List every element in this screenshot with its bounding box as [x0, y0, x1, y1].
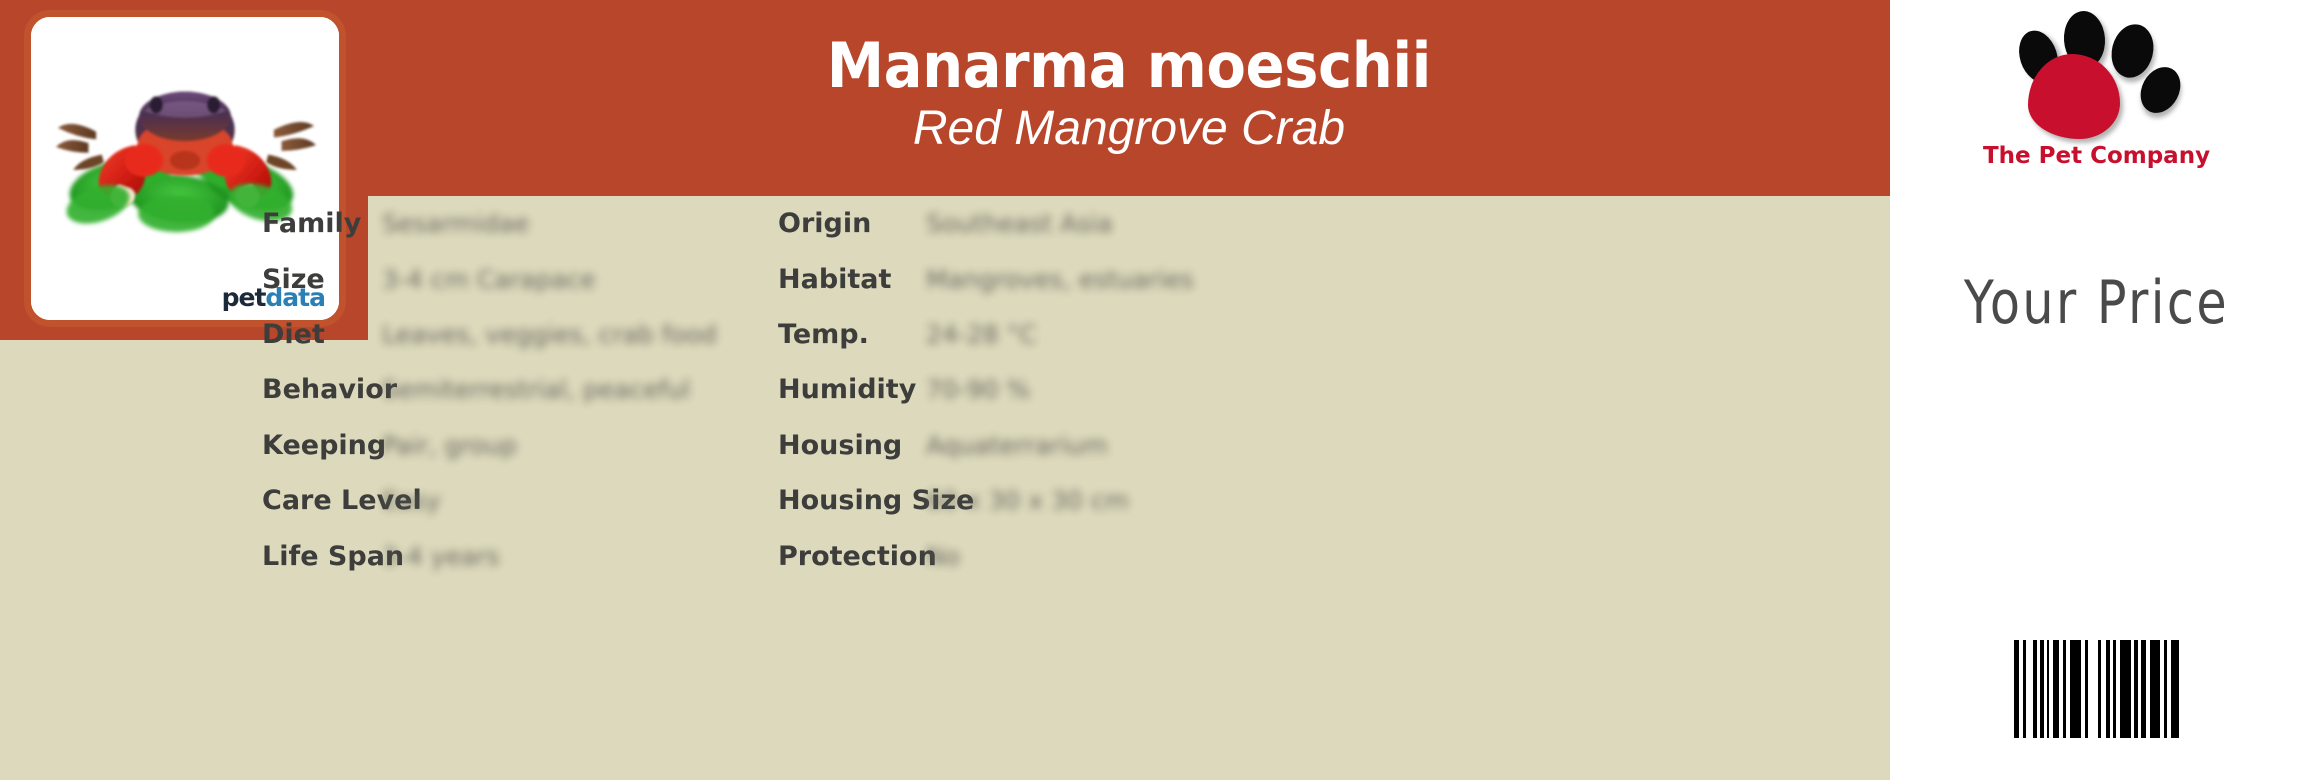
spec-row-origin: Origin Southeast Asia — [778, 196, 1338, 251]
spec-label-housing-size: Housing Size — [778, 485, 926, 516]
species-scientific-name: Manarma moeschii — [827, 34, 1431, 97]
spec-row-temp: Temp. 24-28 °C — [778, 307, 1338, 362]
barcode — [1890, 640, 2303, 740]
spec-row-housing: Housing Aquaterrarium — [778, 418, 1338, 473]
spec-row-housing-size: Housing Size 60 x 30 x 30 cm — [778, 473, 1338, 528]
brand-name: The Pet Company — [1983, 143, 2210, 169]
spec-row-humidity: Humidity 70-90 % — [778, 362, 1338, 417]
spec-row-behavior: Behavior Semiterrestrial, peaceful — [262, 362, 782, 417]
spec-label-housing: Housing — [778, 430, 926, 461]
spec-label-behavior: Behavior — [262, 374, 382, 405]
pet-product-label-card: Manarma moeschii Red Mangrove Crab — [0, 0, 2303, 780]
spec-value-diet: Leaves, veggies, crab food — [382, 320, 717, 349]
barcode-gap — [2026, 640, 2033, 738]
spec-column-right: Origin Southeast Asia Habitat Mangroves,… — [778, 196, 1338, 584]
spec-label-origin: Origin — [778, 208, 926, 239]
barcode-gap — [2088, 640, 2098, 738]
spec-label-humidity: Humidity — [778, 374, 926, 405]
spec-value-care-level: Easy — [382, 486, 441, 515]
barcode-bar — [2070, 640, 2081, 738]
spec-value-life-span: 3-4 years — [382, 542, 500, 571]
spec-value-temp: 24-28 °C — [926, 320, 1037, 349]
spec-label-temp: Temp. — [778, 319, 926, 350]
spec-label-diet: Diet — [262, 319, 382, 350]
spec-row-habitat: Habitat Mangroves, estuaries — [778, 251, 1338, 306]
spec-label-family: Family — [262, 208, 382, 239]
spec-value-protection: No — [926, 542, 960, 571]
spec-value-family: Sesarmidae — [382, 209, 529, 238]
spec-value-housing: Aquaterrarium — [926, 431, 1108, 460]
spec-value-housing-size: 60 x 30 x 30 cm — [926, 486, 1129, 515]
barcode-bar — [2120, 640, 2131, 738]
spec-value-size: 3-4 cm Carapace — [382, 265, 596, 294]
spec-value-keeping: Pair, group — [382, 431, 517, 460]
spec-row-keeping: Keeping Pair, group — [262, 418, 782, 473]
species-common-name: Red Mangrove Crab — [913, 103, 1345, 156]
specifications-table: Family Sesarmidae Size 3-4 cm Carapace D… — [0, 196, 1890, 780]
title-block: Manarma moeschii Red Mangrove Crab — [368, 0, 1890, 196]
brand-logo: The Pet Company — [1890, 6, 2303, 196]
spec-value-origin: Southeast Asia — [926, 209, 1113, 238]
paw-pad — [2028, 54, 2120, 139]
spec-label-keeping: Keeping — [262, 430, 382, 461]
spec-label-size: Size — [262, 264, 382, 295]
spec-row-family: Family Sesarmidae — [262, 196, 782, 251]
price-panel: The Pet Company Your Price — [1890, 0, 2303, 780]
barcode-bar — [2150, 640, 2160, 738]
price-label: Your Price — [1927, 268, 2266, 338]
spec-column-left: Family Sesarmidae Size 3-4 cm Carapace D… — [262, 196, 782, 584]
spec-row-size: Size 3-4 cm Carapace — [262, 251, 782, 306]
barcode-bar — [2171, 640, 2179, 738]
spec-value-humidity: 70-90 % — [926, 375, 1030, 404]
spec-label-life-span: Life Span — [262, 541, 382, 572]
spec-value-habitat: Mangroves, estuaries — [926, 265, 1194, 294]
spec-row-care-level: Care Level Easy — [262, 473, 782, 528]
paw-print-icon — [2002, 6, 2192, 141]
spec-value-behavior: Semiterrestrial, peaceful — [382, 375, 690, 404]
spec-label-care-level: Care Level — [262, 485, 382, 516]
spec-label-habitat: Habitat — [778, 264, 926, 295]
spec-row-protection: Protection No — [778, 528, 1338, 583]
main-panel: Manarma moeschii Red Mangrove Crab — [0, 0, 1890, 780]
spec-row-life-span: Life Span 3-4 years — [262, 528, 782, 583]
spec-label-protection: Protection — [778, 541, 926, 572]
spec-row-diet: Diet Leaves, veggies, crab food — [262, 307, 782, 362]
